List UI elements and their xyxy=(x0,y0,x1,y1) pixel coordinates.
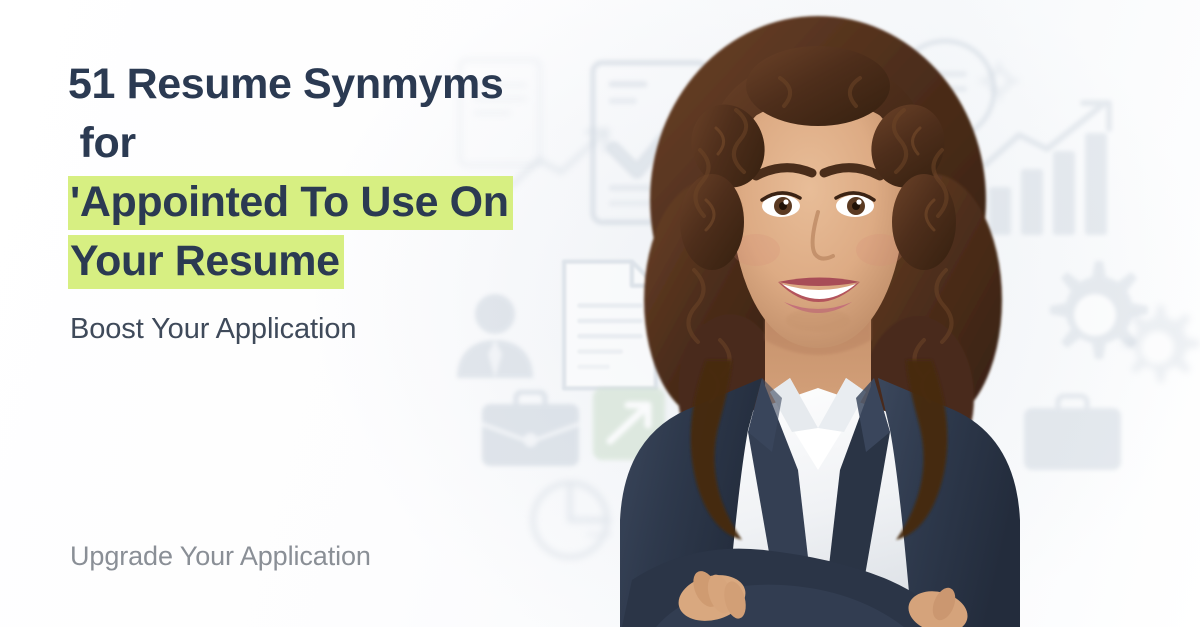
headline-line-2: for xyxy=(68,114,628,173)
headline-line-3-highlighted: 'Appointed To Use On xyxy=(68,176,513,230)
headline-line-1: 51 Resume Synmyms xyxy=(68,55,628,114)
text-column: 51 Resume Synmyms for 'Appointed To Use … xyxy=(68,0,628,627)
headline-line-4-wrap: Your Resume xyxy=(68,232,628,291)
footnote: Upgrade Your Application xyxy=(70,538,371,574)
headline-line-4-highlighted: Your Resume xyxy=(68,235,344,289)
page-title: 51 Resume Synmyms for 'Appointed To Use … xyxy=(68,55,628,291)
resume-synonyms-banner: 51 Resume Synmyms for 'Appointed To Use … xyxy=(0,0,1200,627)
subtitle: Boost Your Application xyxy=(70,310,356,348)
smiling-businesswoman-photo xyxy=(560,0,1080,627)
headline-line-3-wrap: 'Appointed To Use On xyxy=(68,173,628,232)
